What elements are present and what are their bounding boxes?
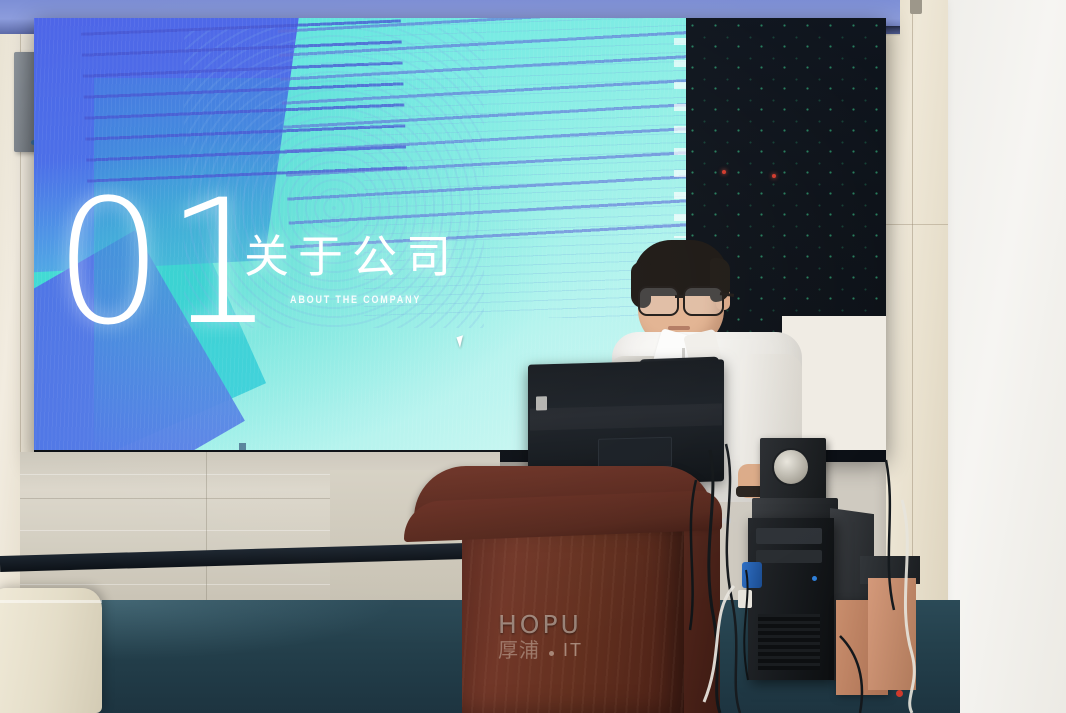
podium-logo-subrow: 厚浦 IT (498, 640, 638, 661)
slide-subtitle: ABOUT THE COMPANY (290, 294, 421, 306)
podium-logo-text: HOPU (498, 612, 638, 638)
glasses-bridge (675, 295, 685, 298)
mouth (668, 326, 690, 330)
ceiling-clip (910, 0, 922, 14)
podium-logo-it: IT (563, 640, 583, 661)
led-status-red-2 (772, 174, 776, 178)
led-status-red-1 (722, 170, 726, 174)
podium-logo-dot-icon (549, 651, 554, 656)
glasses-icon (636, 286, 730, 312)
podium-logo-chinese: 厚浦 (498, 640, 540, 661)
slide-title: 关于公司 (244, 220, 460, 285)
column-seam-horizontal (886, 224, 948, 225)
monitor-band (530, 403, 722, 430)
cable-bundle (690, 440, 930, 713)
glasses-lens-right (683, 286, 724, 316)
monitor-sticker (536, 396, 547, 410)
podium: HOPU 厚浦 IT (404, 466, 722, 713)
podium-logo: HOPU 厚浦 IT (498, 612, 638, 661)
chair (0, 588, 102, 713)
presentation-room-photo: 01 关于公司 ABOUT THE COMPANY (0, 0, 1066, 713)
slide-section-number: 01 (54, 168, 214, 358)
monitor-vesa-plate (598, 437, 672, 469)
glasses-lens-left (638, 286, 679, 316)
chair-edge (0, 600, 102, 603)
